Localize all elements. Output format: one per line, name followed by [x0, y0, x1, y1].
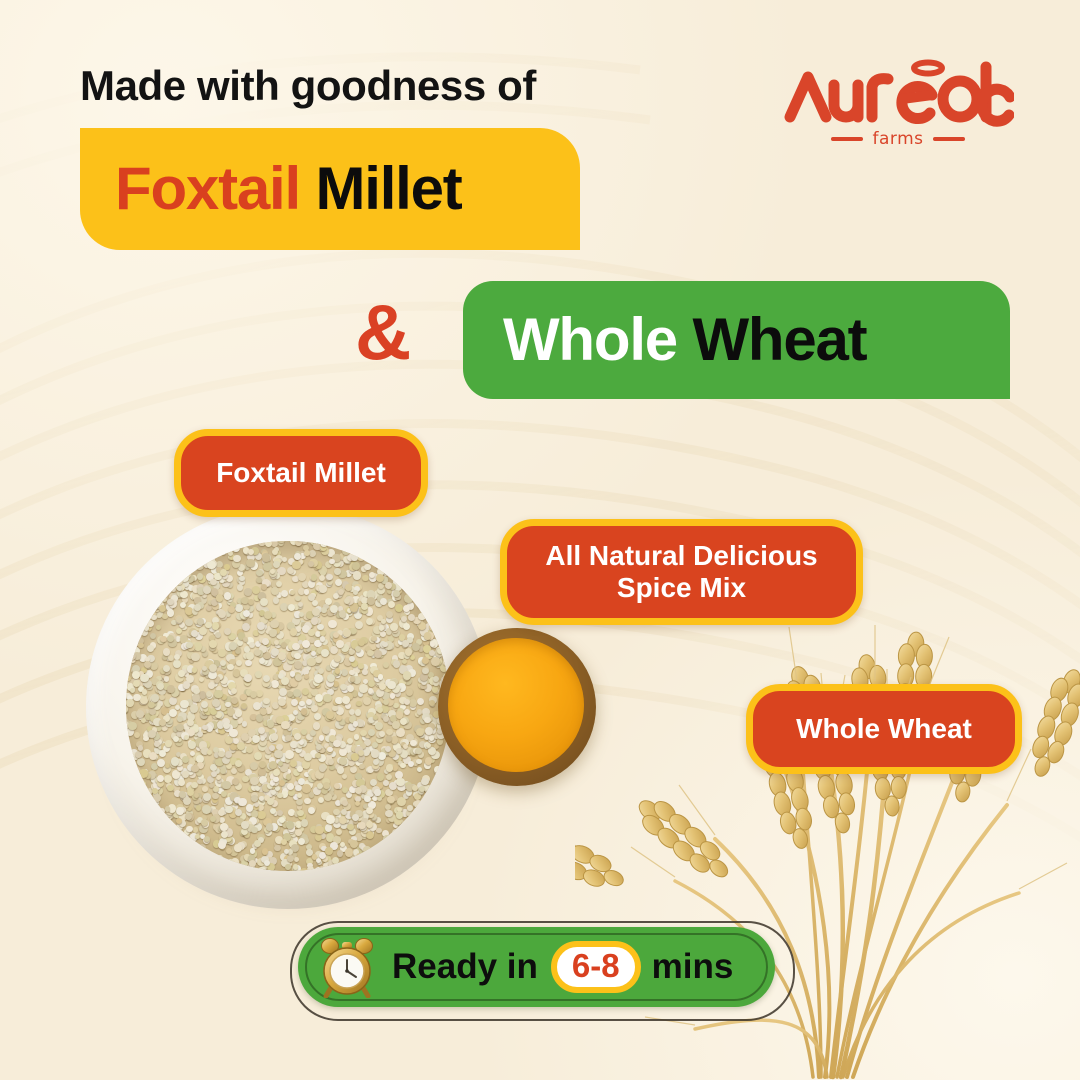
- badge-foxtail-millet[interactable]: Foxtail Millet: [174, 429, 428, 517]
- headline-whole-word: Whole: [503, 306, 677, 373]
- ready-time-chip: 6-8: [551, 941, 641, 994]
- alarm-clock-icon: [316, 936, 378, 998]
- badge-whole-wheat[interactable]: Whole Wheat: [746, 684, 1022, 774]
- badge-spice-label: All Natural Delicious Spice Mix: [517, 540, 846, 605]
- tagline-dash-right: [933, 137, 965, 141]
- millet-grains: [126, 541, 450, 871]
- aureole-wordmark-icon: [782, 55, 1014, 135]
- poster-canvas: Made with goodness of Foxtail Millet & W…: [0, 0, 1080, 1080]
- badge-foxtail-label: Foxtail Millet: [216, 457, 386, 489]
- headline-band-whole-wheat: Whole Wheat: [463, 281, 1010, 399]
- halo-icon: [914, 63, 942, 74]
- headline-band-foxtail-millet: Foxtail Millet: [80, 128, 580, 250]
- headline-line-2: Whole Wheat: [503, 310, 866, 370]
- millet-bowl-image: [86, 505, 490, 909]
- brand-logo: farms: [782, 55, 1014, 155]
- tagline-dash-left: [831, 137, 863, 141]
- brand-tagline: farms: [872, 129, 923, 149]
- headline-wheat-word: Wheat: [677, 306, 866, 373]
- ready-suffix-label: mins: [652, 947, 734, 987]
- bowl-contents: [126, 541, 450, 871]
- badge-spice-mix[interactable]: All Natural Delicious Spice Mix: [500, 519, 863, 625]
- brand-tagline-row: farms: [782, 129, 1014, 149]
- ready-in-banner[interactable]: Ready in 6-8 mins: [298, 927, 775, 1007]
- headline-line-1: Foxtail Millet: [115, 159, 462, 219]
- headline-kicker: Made with goodness of: [80, 62, 536, 110]
- turmeric-spice-bowl-image: [438, 628, 596, 786]
- headline-millet-word: Millet: [300, 155, 462, 222]
- headline-foxtail-word: Foxtail: [115, 155, 300, 222]
- badge-wheat-label: Whole Wheat: [796, 713, 972, 745]
- ready-prefix-label: Ready in: [392, 947, 538, 987]
- headline-ampersand: &: [355, 293, 411, 371]
